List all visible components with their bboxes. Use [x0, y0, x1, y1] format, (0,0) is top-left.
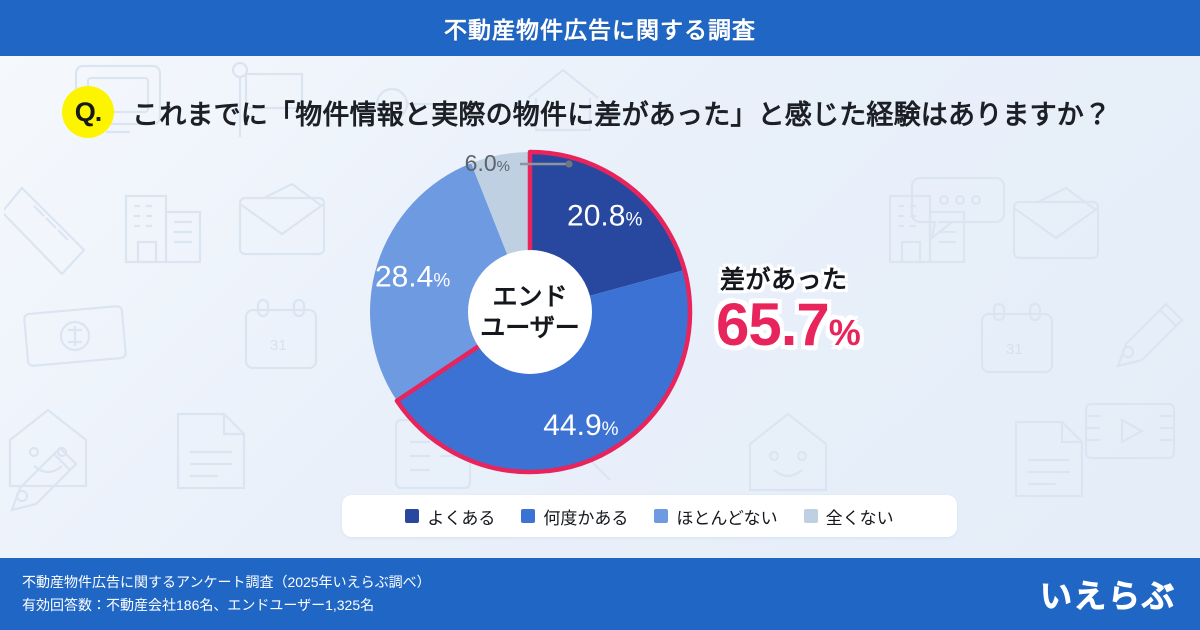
envelope-icon: [236, 182, 336, 258]
slice-value-zenkunai: 6.0%: [465, 150, 510, 176]
highlight-unit: %: [829, 312, 860, 353]
building-icon: [120, 186, 212, 268]
ruler-icon: [4, 182, 100, 282]
footer-bar: 不動産物件広告に関するアンケート調査（2025年いえらぶ調べ） 有効回答数：不動…: [0, 558, 1200, 630]
legend-swatch-icon: [804, 509, 818, 523]
legend-item[interactable]: ほとんどない: [654, 504, 777, 529]
page-title: 不動産物件広告に関する調査: [444, 11, 756, 45]
banknote-icon: [22, 300, 132, 370]
building-icon: [884, 186, 976, 268]
donut-hole: [468, 250, 592, 374]
infographic-root: 31 31: [0, 0, 1200, 630]
legend-label: ほとんどない: [676, 504, 777, 529]
legend-label: 全くない: [826, 504, 894, 529]
chart-legend: よくある 何度かある ほとんどない 全くない: [342, 495, 957, 537]
question-badge: Q.: [62, 86, 114, 138]
legend-swatch-icon: [521, 509, 535, 523]
center-label-line2: ユーザー: [480, 314, 580, 342]
document-icon: [168, 408, 254, 494]
legend-swatch-icon: [654, 509, 668, 523]
legend-item[interactable]: 何度かある: [521, 504, 628, 529]
calendar-icon: 31: [240, 298, 322, 374]
highlight-kicker: 差があった: [720, 268, 946, 293]
pencil-icon: [1106, 296, 1192, 378]
question-row: Q. これまでに「物件情報と実際の物件に差があった」と感じた経験はありますか？: [0, 86, 1200, 138]
calendar-icon: 31: [976, 302, 1058, 378]
svg-text:31: 31: [270, 337, 287, 354]
smiley-house-icon: [0, 404, 96, 492]
svg-text:31: 31: [1006, 341, 1023, 358]
highlight-number: 65.7: [716, 291, 829, 358]
document-icon: [1006, 416, 1092, 502]
footer-line-1: 不動産物件広告に関するアンケート調査（2025年いえらぶ調べ）: [22, 571, 431, 594]
legend-item[interactable]: 全くない: [804, 504, 894, 529]
brand-logo[interactable]: いえらぶ: [1040, 571, 1176, 617]
leader-dot: [565, 160, 572, 167]
footer-note: 不動産物件広告に関するアンケート調査（2025年いえらぶ調べ） 有効回答数：不動…: [22, 571, 431, 617]
legend-swatch-icon: [405, 509, 419, 523]
footer-line-2: 有効回答数：不動産会社186名、エンドユーザー1,325名: [22, 594, 431, 617]
question-text: これまでに「物件情報と実際の物件に差があった」と感じた経験はありますか？: [132, 93, 1111, 132]
highlight-value: 65.7%: [716, 295, 946, 355]
center-label-line1: エンド: [492, 283, 567, 311]
envelope-icon: [1010, 186, 1110, 262]
brand-logo-text: いえらぶ: [1040, 571, 1176, 617]
highlight-callout: 差があった 65.7%: [716, 268, 946, 355]
legend-label: 何度かある: [543, 504, 628, 529]
legend-item[interactable]: よくある: [405, 504, 495, 529]
film-icon: [1082, 398, 1178, 464]
header-bar: 不動産物件広告に関する調査: [0, 0, 1200, 56]
legend-label: よくある: [427, 504, 495, 529]
